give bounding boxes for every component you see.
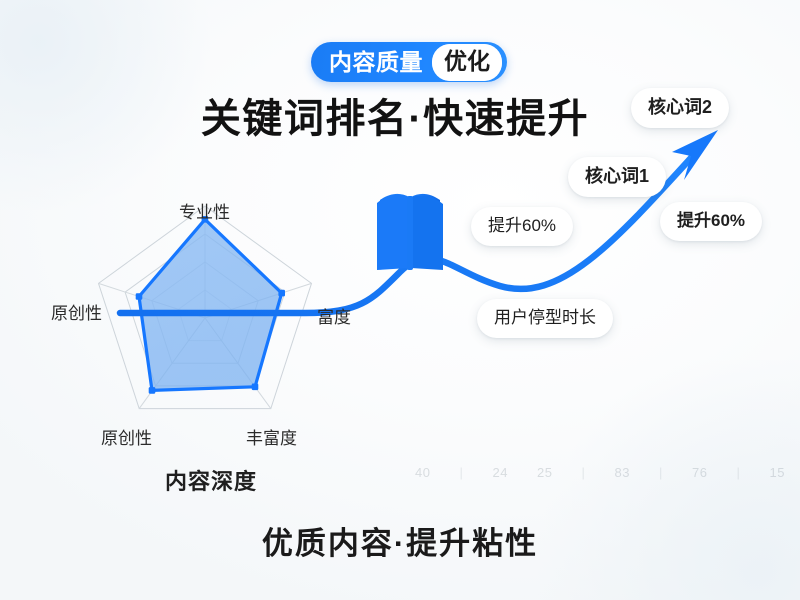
radar-axis-label-right: 富度 xyxy=(317,303,351,328)
radar-axis-label-top: 专业性 xyxy=(179,198,230,223)
footer-tagline: 优质内容·提升粘性 xyxy=(0,518,800,563)
radar-axis-label-left: 原创性 xyxy=(51,299,102,324)
radar-axis-label-bottom-right: 丰富度 xyxy=(246,424,297,449)
badge-chip-label: 优化 xyxy=(432,44,502,81)
callout-dwell-time: 用户停型时长 xyxy=(477,299,613,338)
callout-uplift-right: 提升60% xyxy=(660,202,762,241)
badge-main-label: 内容质量 xyxy=(329,51,432,74)
radar-axis-label-bottom-left: 原创性 xyxy=(101,424,152,449)
status-badge: 内容质量 优化 xyxy=(311,42,507,82)
page-title-text: 关键词排名·快速提升 xyxy=(201,86,589,144)
callout-keyword-1: 核心词1 xyxy=(568,157,666,197)
callout-uplift-left: 提升60% xyxy=(471,207,573,246)
radar-caption: 内容深度 xyxy=(165,464,257,496)
callout-keyword-2: 核心词2 xyxy=(631,88,729,128)
infographic-canvas: 内容质量 优化 关键词排名·快速提升 核心词2 核心词1 提升60% 提升60%… xyxy=(0,0,800,600)
